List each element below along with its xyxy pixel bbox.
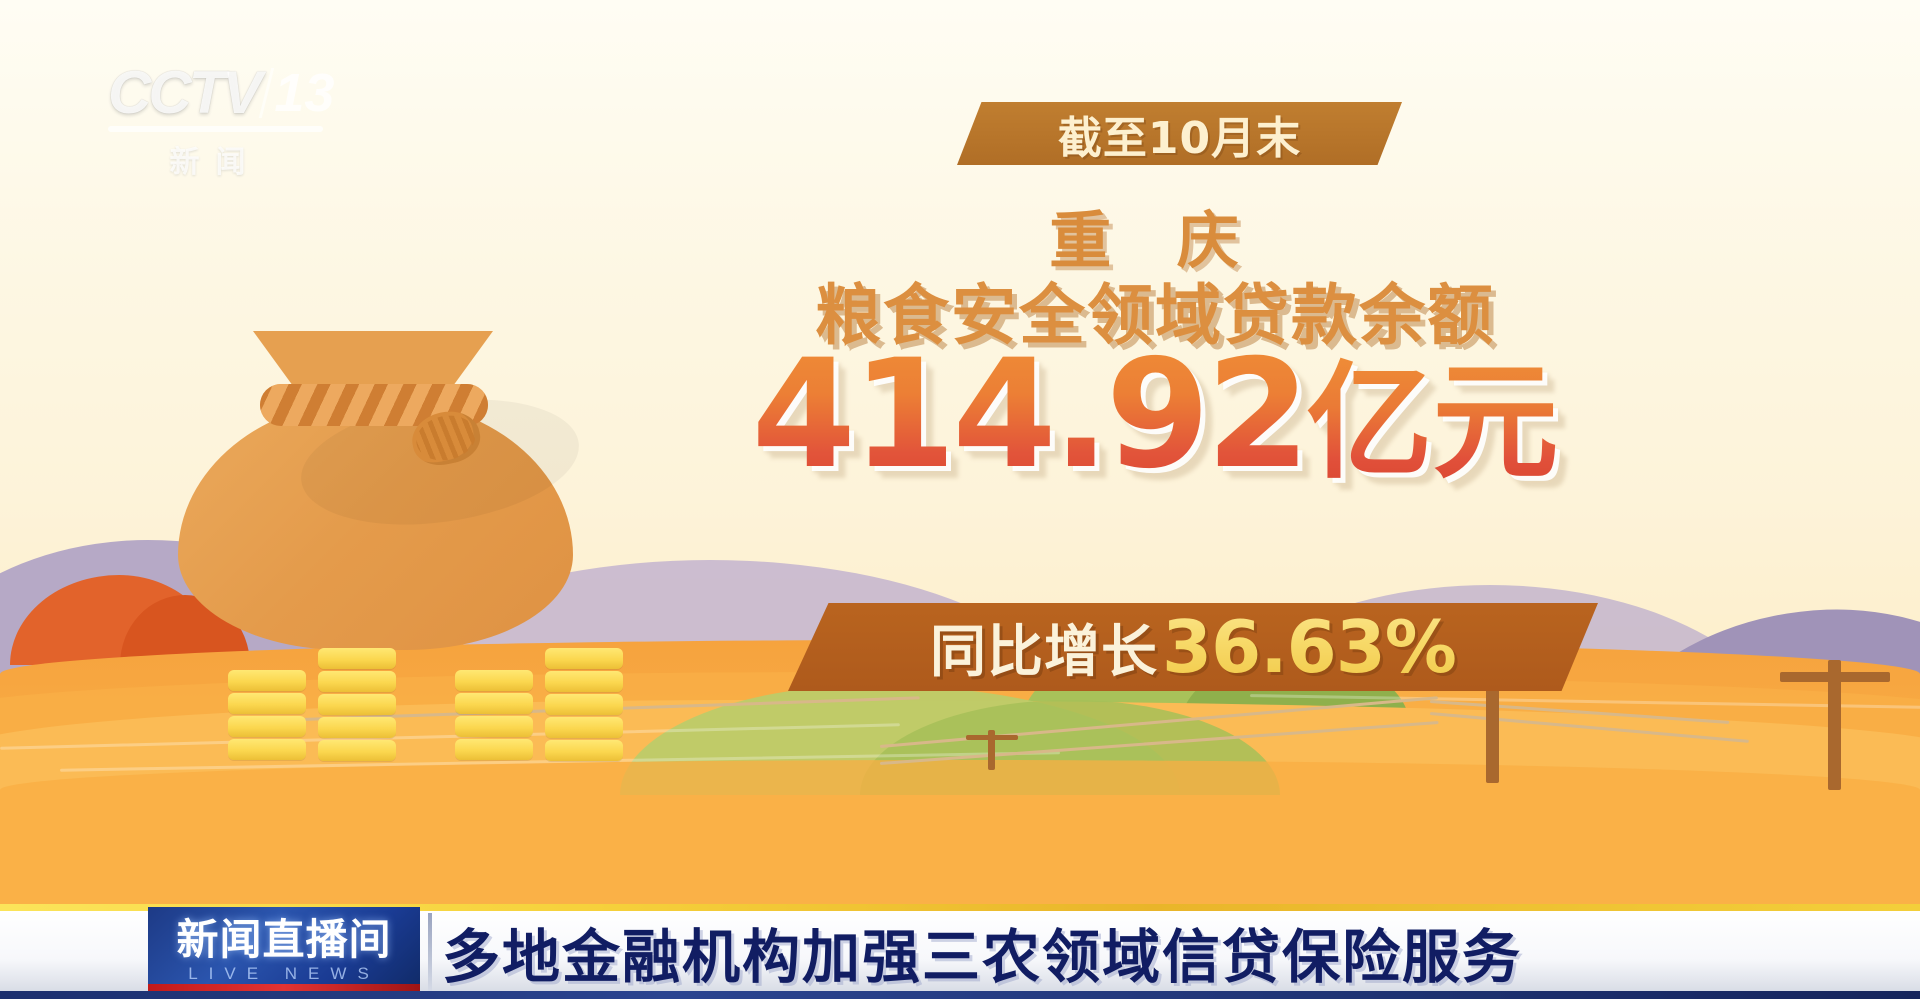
cctv13-logo: CCTV 13 新闻 <box>108 62 358 170</box>
coin <box>545 671 623 692</box>
coin <box>455 739 533 760</box>
coin <box>455 670 533 691</box>
broadcast-screenshot: CCTV 13 新闻 截至10月末 重 庆 粮食安全领域贷款余额 414.92亿… <box>0 0 1920 999</box>
yoy-growth-label: 同比增长 <box>930 607 1158 688</box>
logo-divider-icon <box>259 68 274 118</box>
headline-figure: 414.92亿元 <box>600 340 1710 490</box>
lower-third-bottom-accent <box>0 991 1920 999</box>
logo-row: CCTV 13 <box>108 62 358 124</box>
logo-channel-number: 13 <box>274 62 334 124</box>
coin <box>545 694 623 715</box>
coin <box>228 716 306 737</box>
coin <box>228 693 306 714</box>
figure-unit: 亿元 <box>1306 349 1558 496</box>
program-name-cn: 新闻直播间 <box>176 919 391 961</box>
lower-third-divider <box>428 913 432 991</box>
coin <box>228 739 306 760</box>
news-headline: 多地金融机构加强三农领域信贷保险服务 <box>442 913 1522 991</box>
program-name-en: LIVE NEWS <box>188 965 380 982</box>
coin <box>318 671 396 692</box>
logo-chinese-name: 新闻 <box>108 137 323 181</box>
coin <box>318 740 396 761</box>
coin <box>228 670 306 691</box>
coin <box>545 648 623 669</box>
coin <box>318 717 396 738</box>
power-pole-arm <box>1780 672 1890 682</box>
as-of-date-label: 截至10月末 <box>1058 102 1301 166</box>
figure-value: 414.92 <box>752 328 1307 502</box>
coin <box>455 716 533 737</box>
yoy-growth-banner: 同比增长36.63% <box>788 603 1598 691</box>
program-badge: 新闻直播间 LIVE NEWS <box>148 907 420 993</box>
logo-underline <box>108 126 323 132</box>
coin <box>318 694 396 715</box>
coin <box>545 717 623 738</box>
power-pole-arm-small <box>966 735 1018 740</box>
coin <box>318 648 396 669</box>
coin <box>545 740 623 761</box>
coin <box>455 693 533 714</box>
yoy-growth-value: 36.63% <box>1162 605 1456 689</box>
logo-text: CCTV <box>108 63 259 123</box>
lower-third-bar: 新闻直播间 LIVE NEWS 多地金融机构加强三农领域信贷保险服务 <box>0 904 1920 999</box>
as-of-date-banner: 截至10月末 <box>957 102 1402 165</box>
